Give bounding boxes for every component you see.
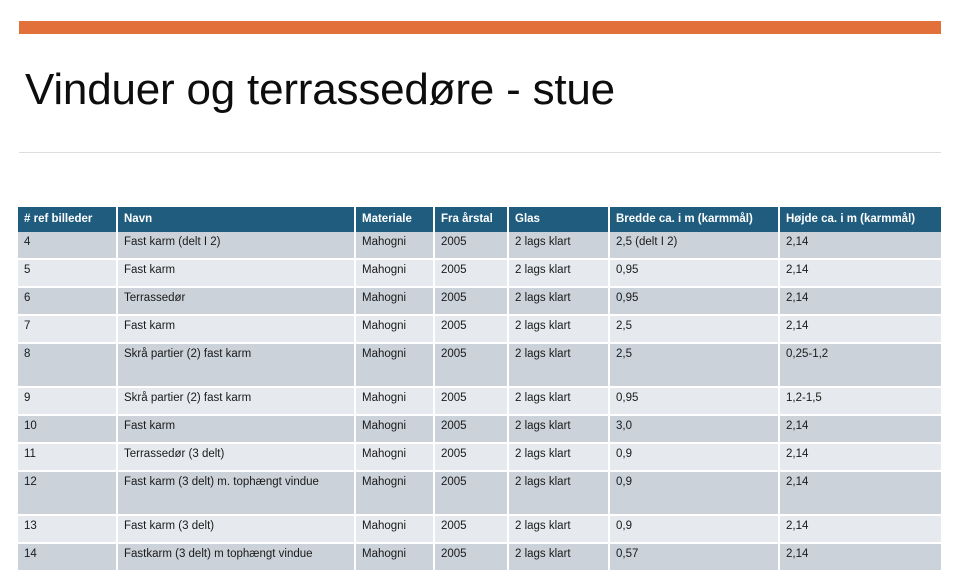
column-header-aarstal[interactable]: Fra årstal [434, 207, 508, 232]
cell-navn: Fast karm (delt I 2) [117, 232, 355, 259]
cell-glas: 2 lags klart [508, 515, 609, 543]
cell-aarstal: 2005 [434, 515, 508, 543]
cell-materiale: Mahogni [355, 387, 434, 415]
cell-ref: 7 [18, 315, 117, 343]
cell-glas: 2 lags klart [508, 315, 609, 343]
cell-hojde: 2,14 [779, 471, 941, 515]
cell-aarstal: 2005 [434, 415, 508, 443]
cell-navn: Fast karm [117, 259, 355, 287]
cell-bredde: 0,95 [609, 387, 779, 415]
column-header-hojde[interactable]: Højde ca. i m (karmmål) [779, 207, 941, 232]
table-header-row: # ref billeder Navn Materiale Fra årstal… [18, 207, 941, 232]
column-header-ref[interactable]: # ref billeder [18, 207, 117, 232]
table-row[interactable]: 8Skrå partier (2) fast karmMahogni20052 … [18, 343, 941, 387]
cell-hojde: 2,14 [779, 287, 941, 315]
table-row[interactable]: 9Skrå partier (2) fast karmMahogni20052 … [18, 387, 941, 415]
cell-bredde: 2,5 [609, 343, 779, 387]
cell-navn: Fast karm (3 delt) m. tophængt vindue [117, 471, 355, 515]
cell-navn: Fast karm (3 delt) [117, 515, 355, 543]
page-title: Vinduer og terrassedøre - stue [25, 62, 615, 118]
cell-hojde: 2,14 [779, 515, 941, 543]
cell-bredde: 2,5 (delt I 2) [609, 232, 779, 259]
cell-hojde: 2,14 [779, 415, 941, 443]
cell-navn: Fast karm [117, 415, 355, 443]
cell-hojde: 2,14 [779, 232, 941, 259]
cell-ref: 4 [18, 232, 117, 259]
cell-materiale: Mahogni [355, 315, 434, 343]
cell-aarstal: 2005 [434, 232, 508, 259]
cell-glas: 2 lags klart [508, 259, 609, 287]
table-row[interactable]: 12Fast karm (3 delt) m. tophængt vindueM… [18, 471, 941, 515]
table-row[interactable]: 13Fast karm (3 delt)Mahogni20052 lags kl… [18, 515, 941, 543]
column-header-materiale[interactable]: Materiale [355, 207, 434, 232]
cell-hojde: 2,14 [779, 259, 941, 287]
column-header-bredde[interactable]: Bredde ca. i m (karmmål) [609, 207, 779, 232]
cell-materiale: Mahogni [355, 259, 434, 287]
cell-bredde: 2,5 [609, 315, 779, 343]
cell-aarstal: 2005 [434, 471, 508, 515]
cell-glas: 2 lags klart [508, 232, 609, 259]
cell-ref: 8 [18, 343, 117, 387]
cell-ref: 13 [18, 515, 117, 543]
cell-glas: 2 lags klart [508, 387, 609, 415]
cell-aarstal: 2005 [434, 387, 508, 415]
table-row[interactable]: 5Fast karmMahogni20052 lags klart0,952,1… [18, 259, 941, 287]
cell-materiale: Mahogni [355, 515, 434, 543]
column-header-navn[interactable]: Navn [117, 207, 355, 232]
data-table: # ref billeder Navn Materiale Fra årstal… [18, 207, 941, 572]
cell-hojde: 0,25-1,2 [779, 343, 941, 387]
column-header-glas[interactable]: Glas [508, 207, 609, 232]
cell-bredde: 0,57 [609, 543, 779, 571]
table-body: 4Fast karm (delt I 2)Mahogni20052 lags k… [18, 232, 941, 571]
cell-materiale: Mahogni [355, 543, 434, 571]
cell-ref: 14 [18, 543, 117, 571]
cell-bredde: 3,0 [609, 415, 779, 443]
table-row[interactable]: 10Fast karmMahogni20052 lags klart3,02,1… [18, 415, 941, 443]
cell-aarstal: 2005 [434, 287, 508, 315]
cell-materiale: Mahogni [355, 343, 434, 387]
cell-navn: Skrå partier (2) fast karm [117, 387, 355, 415]
cell-navn: Fast karm [117, 315, 355, 343]
cell-glas: 2 lags klart [508, 415, 609, 443]
cell-aarstal: 2005 [434, 343, 508, 387]
cell-glas: 2 lags klart [508, 543, 609, 571]
cell-hojde: 1,2-1,5 [779, 387, 941, 415]
title-divider [19, 152, 941, 153]
slide-accent-bar [19, 21, 941, 34]
cell-aarstal: 2005 [434, 543, 508, 571]
cell-hojde: 2,14 [779, 543, 941, 571]
cell-aarstal: 2005 [434, 443, 508, 471]
table-header: # ref billeder Navn Materiale Fra årstal… [18, 207, 941, 232]
cell-bredde: 0,9 [609, 443, 779, 471]
cell-ref: 9 [18, 387, 117, 415]
cell-glas: 2 lags klart [508, 287, 609, 315]
cell-bredde: 0,9 [609, 471, 779, 515]
cell-navn: Terrassedør (3 delt) [117, 443, 355, 471]
cell-materiale: Mahogni [355, 415, 434, 443]
windows-and-terrace-doors-table: # ref billeder Navn Materiale Fra årstal… [18, 207, 941, 572]
cell-ref: 11 [18, 443, 117, 471]
cell-ref: 5 [18, 259, 117, 287]
cell-aarstal: 2005 [434, 315, 508, 343]
cell-materiale: Mahogni [355, 443, 434, 471]
cell-navn: Terrassedør [117, 287, 355, 315]
cell-glas: 2 lags klart [508, 343, 609, 387]
cell-glas: 2 lags klart [508, 443, 609, 471]
table-row[interactable]: 7Fast karmMahogni20052 lags klart2,52,14 [18, 315, 941, 343]
table-row[interactable]: 14Fastkarm (3 delt) m tophængt vindueMah… [18, 543, 941, 571]
table-row[interactable]: 6TerrassedørMahogni20052 lags klart0,952… [18, 287, 941, 315]
cell-materiale: Mahogni [355, 471, 434, 515]
cell-hojde: 2,14 [779, 315, 941, 343]
cell-ref: 10 [18, 415, 117, 443]
cell-ref: 12 [18, 471, 117, 515]
cell-navn: Fastkarm (3 delt) m tophængt vindue [117, 543, 355, 571]
cell-bredde: 0,95 [609, 287, 779, 315]
table-row[interactable]: 11Terrassedør (3 delt)Mahogni20052 lags … [18, 443, 941, 471]
cell-navn: Skrå partier (2) fast karm [117, 343, 355, 387]
cell-ref: 6 [18, 287, 117, 315]
cell-hojde: 2,14 [779, 443, 941, 471]
table-row[interactable]: 4Fast karm (delt I 2)Mahogni20052 lags k… [18, 232, 941, 259]
cell-bredde: 0,9 [609, 515, 779, 543]
cell-materiale: Mahogni [355, 287, 434, 315]
cell-glas: 2 lags klart [508, 471, 609, 515]
cell-materiale: Mahogni [355, 232, 434, 259]
cell-aarstal: 2005 [434, 259, 508, 287]
cell-bredde: 0,95 [609, 259, 779, 287]
